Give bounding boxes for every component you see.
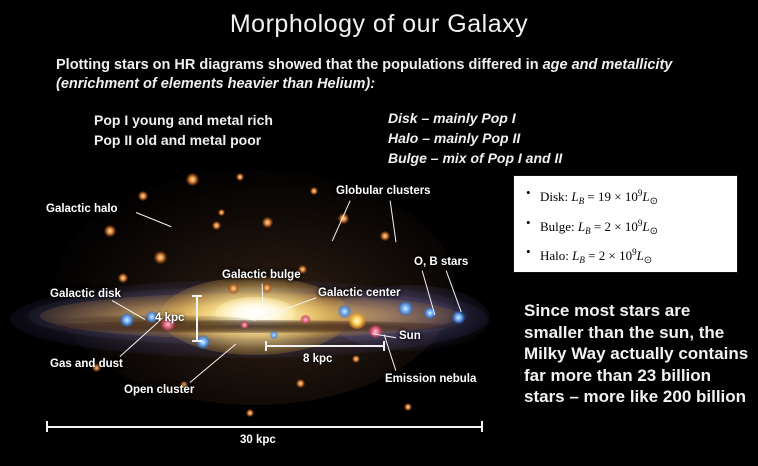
- luminosity-item-bulge: Bulge: LB = 2 × 109L⊙: [540, 213, 731, 243]
- globular-cluster-point: [186, 173, 199, 186]
- scale-bracket-8kpc: [265, 341, 385, 351]
- emission-nebula-point: [300, 315, 311, 324]
- ob-star-cluster: [270, 331, 278, 339]
- emission-nebula-point: [368, 325, 383, 338]
- label-galactic-center: Galactic center: [318, 287, 400, 299]
- luminosity-subscript: B: [579, 196, 585, 206]
- sun-marker: [348, 313, 366, 329]
- luminosity-times: ×: [652, 278, 659, 293]
- luminosity-sun-symbol: L: [642, 189, 649, 204]
- label-galactic-disk: Galactic disk: [50, 288, 121, 300]
- intro-paragraph: Plotting stars on HR diagrams showed tha…: [56, 56, 736, 94]
- luminosity-times: ×: [614, 219, 621, 234]
- scale-label-30kpc: 30 kpc: [240, 434, 276, 446]
- population-list-right: Disk – mainly Pop I Halo – mainly Pop II…: [388, 108, 562, 168]
- globular-cluster-point: [228, 283, 239, 294]
- luminosity-sun-symbol: L: [637, 248, 644, 263]
- globular-cluster-point: [218, 209, 225, 216]
- luminosity-base: 10: [625, 189, 638, 204]
- slide-canvas: Morphology of our Galaxy Plotting stars …: [0, 0, 758, 466]
- globular-cluster-point: [380, 231, 390, 241]
- intro-line1-emphasis: age and metallicity: [543, 57, 673, 73]
- globular-cluster-point: [246, 409, 254, 417]
- globular-cluster-point: [104, 225, 116, 237]
- luminosity-subscript: B: [616, 285, 622, 295]
- luminosity-equals: =: [625, 278, 632, 293]
- luminosity-base: 10: [625, 219, 638, 234]
- sun-glyph-icon: ⊙: [650, 196, 658, 207]
- ob-star-cluster: [452, 311, 465, 324]
- globular-cluster-point: [212, 221, 221, 230]
- luminosity-equals: =: [588, 248, 595, 263]
- scale-bracket-30kpc: [46, 421, 483, 432]
- label-galactic-bulge: Galactic bulge: [222, 269, 301, 281]
- globular-cluster-point: [296, 379, 305, 388]
- luminosity-subscript: B: [585, 226, 591, 236]
- luminosity-list: Disk: LB = 19 × 109L⊙ Bulge: LB = 2 × 10…: [524, 183, 731, 301]
- globular-cluster-point: [262, 283, 272, 293]
- luminosity-symbol: L: [571, 189, 578, 204]
- luminosity-label-halo: Halo:: [540, 248, 569, 263]
- intro-line2: (enrichment of elements heavier than Hel…: [56, 76, 375, 92]
- globular-cluster-point: [236, 173, 244, 181]
- pop-left-item-0: Pop I young and metal rich: [94, 110, 273, 130]
- population-list-left: Pop I young and metal rich Pop II old an…: [94, 110, 273, 150]
- luminosity-sun-symbol: L: [680, 278, 687, 293]
- sun-glyph-icon: ⊙: [644, 255, 652, 266]
- globular-cluster-point: [154, 251, 167, 264]
- page-title: Morphology of our Galaxy: [0, 10, 758, 39]
- luminosity-item-halo: Halo: LB = 2 × 109L⊙: [540, 242, 731, 272]
- pop-right-item-1: Halo – mainly Pop II: [388, 128, 562, 148]
- globular-cluster-point: [310, 187, 318, 195]
- summary-paragraph: Since most stars are smaller than the su…: [524, 300, 752, 408]
- luminosity-value-total: 23: [635, 278, 648, 293]
- sun-glyph-icon: ⊙: [650, 226, 658, 237]
- label-gas-and-dust: Gas and dust: [50, 358, 123, 370]
- globular-cluster-point: [118, 273, 128, 283]
- scale-bracket-vertical: [192, 295, 202, 342]
- luminosity-base: 10: [662, 278, 675, 293]
- ob-star-cluster: [398, 301, 413, 316]
- globular-cluster-point: [138, 191, 148, 201]
- scale-label-8kpc: 8 kpc: [303, 353, 332, 365]
- luminosity-sun-symbol: L: [642, 219, 649, 234]
- luminosity-base: 10: [619, 248, 632, 263]
- ob-star-cluster: [120, 313, 134, 327]
- luminosity-equals: =: [587, 189, 594, 204]
- sun-glyph-icon: ⊙: [687, 285, 695, 296]
- luminosity-times: ×: [608, 248, 615, 263]
- luminosity-value-bulge: 2: [605, 219, 612, 234]
- luminosity-subscript: B: [579, 255, 585, 265]
- pop-left-item-1: Pop II old and metal poor: [94, 130, 273, 150]
- luminosity-value-disk: 19: [598, 189, 611, 204]
- luminosity-times: ×: [614, 189, 621, 204]
- globular-cluster-point: [262, 217, 273, 228]
- globular-cluster-point: [352, 355, 360, 363]
- luminosity-equals: =: [594, 219, 601, 234]
- luminosity-value-halo: 2: [599, 248, 606, 263]
- luminosity-label-disk: Disk:: [540, 189, 568, 204]
- emission-nebula-point: [240, 321, 249, 329]
- luminosity-label-total: Grand Total:: [540, 278, 606, 293]
- intro-line1-plain: Plotting stars on HR diagrams showed tha…: [56, 57, 543, 73]
- label-sun: Sun: [399, 330, 421, 342]
- label-open-cluster: Open cluster: [124, 384, 194, 396]
- label-globular-clusters: Globular clusters: [336, 185, 431, 197]
- luminosity-item-disk: Disk: LB = 19 × 109L⊙: [540, 183, 731, 213]
- label-emission-nebula: Emission nebula: [385, 373, 476, 385]
- luminosity-item-total: Grand Total: LB = 23 × 109L⊙: [540, 272, 731, 302]
- luminosity-info-box: Disk: LB = 19 × 109L⊙ Bulge: LB = 2 × 10…: [513, 175, 738, 273]
- label-ob-stars: O, B stars: [414, 256, 468, 268]
- scale-label-4kpc: 4 kpc: [155, 312, 184, 324]
- globular-cluster-point: [404, 403, 412, 411]
- label-galactic-halo: Galactic halo: [46, 203, 118, 215]
- pop-right-item-0: Disk – mainly Pop I: [388, 108, 562, 128]
- luminosity-label-bulge: Bulge:: [540, 219, 575, 234]
